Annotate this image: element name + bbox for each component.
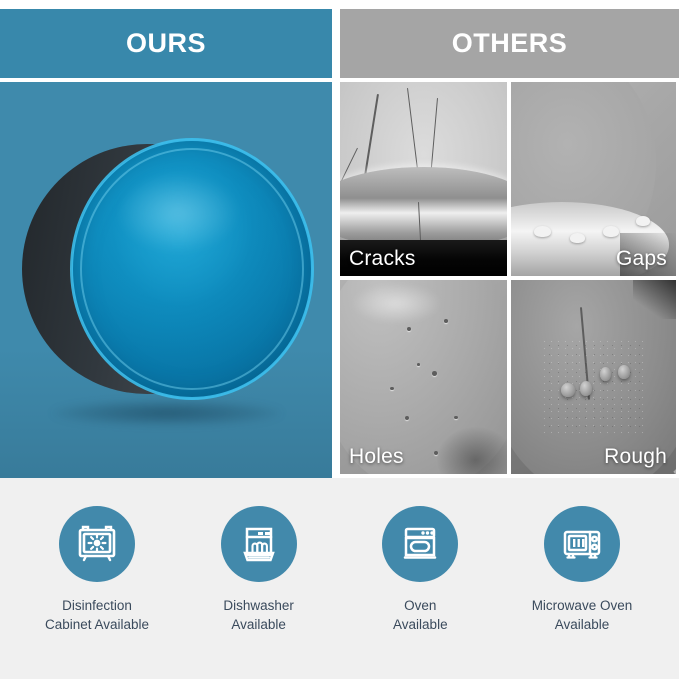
feature-icon-circle [382, 506, 458, 582]
product-photo-ours [0, 82, 332, 478]
bowl-gloss-highlight [118, 174, 238, 252]
feature-icon-circle [221, 506, 297, 582]
defect-label-gaps: Gaps [616, 247, 667, 271]
feature-microwave-oven: Microwave Oven Available [507, 506, 657, 634]
feature-label-line1: Oven [404, 598, 436, 613]
hole-dot [405, 416, 409, 420]
header-label-ours: OURS [126, 28, 206, 59]
hole-dot [432, 371, 437, 376]
defect-cell-holes: Holes [340, 280, 507, 474]
disinfection-cabinet-icon [74, 521, 120, 567]
defect-label-cracks: Cracks [349, 247, 416, 271]
defect-photo-grid: Cracks Gaps [340, 82, 679, 478]
gap-blob [636, 216, 650, 226]
features-strip: Disinfection Cabinet Available [0, 478, 679, 679]
feature-icon-circle [544, 506, 620, 582]
feature-label-line2: Available [532, 615, 633, 634]
rough-shadow-corner [633, 280, 676, 319]
defect-label-rough: Rough [604, 445, 667, 469]
feature-label-line2: Available [223, 615, 294, 634]
defect-label-holes: Holes [349, 445, 404, 469]
feature-label: Dishwasher Available [223, 596, 294, 634]
oven-icon [397, 521, 443, 567]
feature-label-line1: Dishwasher [223, 598, 294, 613]
cracks-rim-edge [340, 167, 507, 248]
feature-disinfection-cabinet: Disinfection Cabinet Available [22, 506, 172, 634]
header-bar-others: OTHERS [340, 9, 679, 78]
product-drop-shadow [52, 400, 282, 426]
gap-blob [534, 226, 551, 237]
header-label-others: OTHERS [452, 28, 568, 59]
feature-label-line1: Microwave Oven [532, 598, 633, 613]
dishwasher-icon [236, 521, 282, 567]
feature-label: Oven Available [393, 596, 448, 634]
comparison-content-row: Cracks Gaps [0, 82, 679, 478]
holes-sheen-highlight [353, 284, 440, 323]
hole-dot [454, 416, 458, 420]
defect-cell-cracks: Cracks [340, 82, 507, 276]
microwave-oven-icon [559, 521, 605, 567]
feature-label-line1: Disinfection [62, 598, 132, 613]
feature-label: Disinfection Cabinet Available [45, 596, 149, 634]
feature-label-line2: Available [393, 615, 448, 634]
defect-cell-gaps: Gaps [511, 82, 676, 276]
product-comparison-infographic: OURS OTHERS [0, 0, 679, 679]
hole-dot [407, 327, 411, 331]
feature-label: Microwave Oven Available [532, 596, 633, 634]
feature-icon-circle [59, 506, 135, 582]
feature-label-line2: Cabinet Available [45, 615, 149, 634]
feature-oven: Oven Available [345, 506, 495, 634]
gap-blob [570, 233, 585, 243]
header-bar-ours: OURS [0, 9, 332, 78]
feature-dishwasher: Dishwasher Available [184, 506, 334, 634]
hole-dot [444, 319, 449, 323]
comparison-header-row: OURS OTHERS [0, 9, 679, 78]
gap-blob [603, 226, 619, 237]
defect-cell-rough: Rough [511, 280, 676, 474]
